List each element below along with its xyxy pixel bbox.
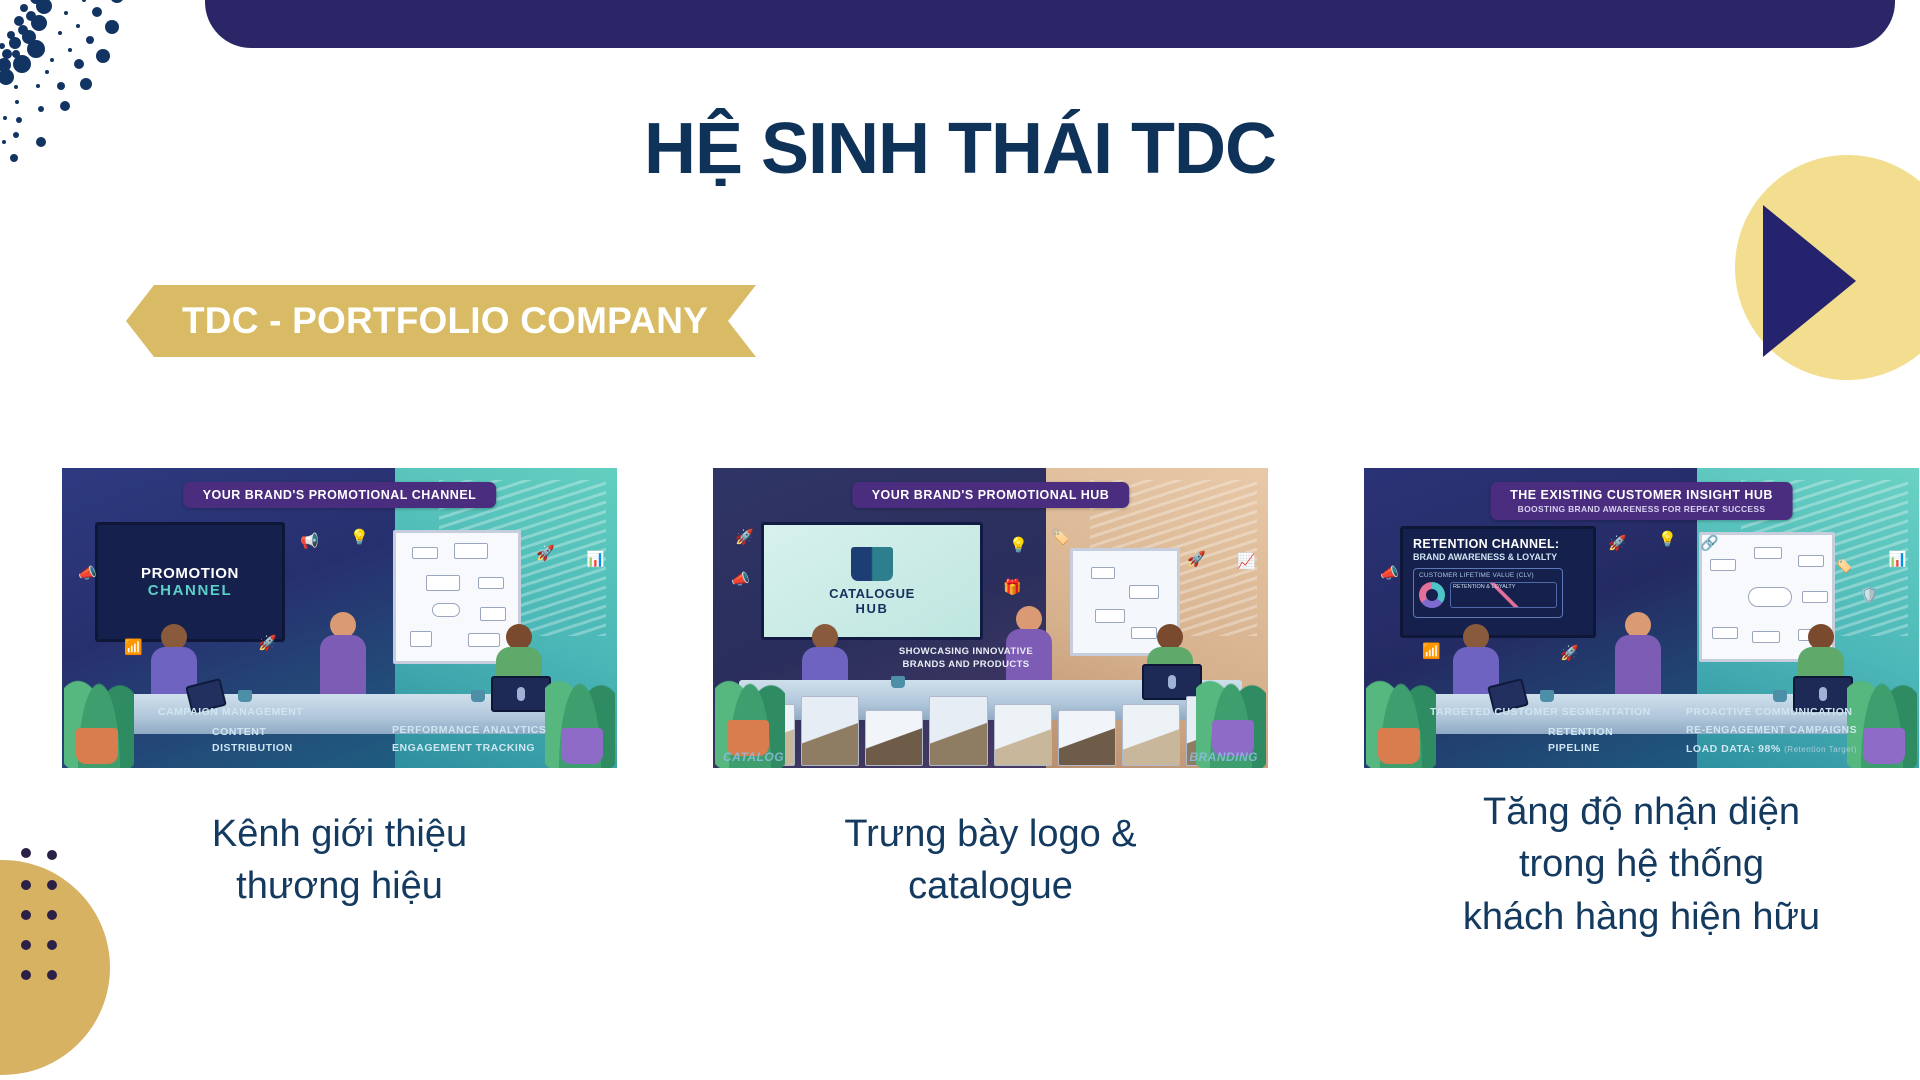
catalogue-book [994, 704, 1052, 766]
screen-title: RETENTION CHANNEL: [1413, 537, 1559, 551]
presentation-screen: RETENTION CHANNEL: BRAND AWARENESS & LOY… [1400, 526, 1596, 638]
whiteboard-center-node [1748, 587, 1792, 607]
feature-labels: TARGETED CUSTOMER SEGMENTATION RETENTION… [1364, 696, 1919, 768]
lightbulb-icon: 💡 [350, 530, 369, 545]
top-decorative-bar [205, 0, 1895, 48]
feature-label: CAMPAIGN MANAGEMENT [158, 706, 303, 718]
screen-title-line1: PROMOTION [141, 565, 239, 582]
whiteboard-node [1091, 567, 1115, 579]
rocket-icon: 🚀 [1560, 646, 1579, 661]
bar-chart-icon: 📈 [1237, 554, 1256, 569]
page-title: HỆ SINH THÁI TDC [0, 108, 1920, 190]
whiteboard-node [1095, 609, 1125, 623]
rocket-icon: 🚀 [735, 530, 754, 545]
retention-trend-chart: RETENTION & LOYALTY [1450, 582, 1557, 608]
screen-subtitle: BRAND AWARENESS & LOYALTY [1413, 552, 1557, 562]
bar-chart-icon: 📊 [1888, 552, 1907, 567]
load-data-value: LOAD DATA: 98% [1686, 743, 1781, 755]
card-ribbon: YOUR BRAND'S PROMOTIONAL CHANNEL [183, 482, 497, 508]
catalogue-book [801, 696, 859, 766]
link-icon: 🔗 [1700, 536, 1719, 551]
feature-label: PERFORMANCE ANALYTICS [392, 724, 546, 736]
corner-word-branding: BRANDING [1189, 750, 1258, 764]
feature-label: RE-ENGAGEMENT CAMPAIGNS [1686, 724, 1857, 736]
load-data-note: (Retention Target) [1784, 745, 1857, 754]
screen-title-line2: HUB [856, 601, 889, 616]
whiteboard-node [412, 547, 438, 559]
play-triangle-icon [1763, 205, 1856, 357]
whiteboard-node [1752, 631, 1780, 643]
whiteboard-node [478, 577, 504, 589]
ribbon-title: YOUR BRAND'S PROMOTIONAL CHANNEL [203, 488, 477, 502]
feature-label: CONTENT [212, 726, 266, 738]
card-catalogue-hub[interactable]: CATALOGUE HUB [713, 468, 1268, 943]
card-image-customer-insight-hub: RETENTION CHANNEL: BRAND AWARENESS & LOY… [1364, 468, 1919, 768]
clv-panel: CUSTOMER LIFETIME VALUE (CLV) RETENTION … [1413, 568, 1563, 618]
megaphone-icon: 📣 [1380, 566, 1399, 581]
corner-word-catalog: CATALOG [723, 750, 784, 764]
price-tag-icon: 🏷️ [1834, 558, 1853, 573]
donut-chart-icon [1419, 582, 1445, 608]
price-tag-icon: 🏷️ [1051, 530, 1070, 545]
catalogue-book [1058, 710, 1116, 766]
whiteboard-node [1712, 627, 1738, 639]
screen-title-line1: CATALOGUE [829, 586, 915, 601]
card-row: PROMOTION CHANNEL [62, 468, 1858, 943]
rocket-icon: 🚀 [1187, 552, 1206, 567]
portfolio-company-badge: TDC - PORTFOLIO COMPANY [126, 285, 756, 357]
feature-label: ENGAGEMENT TRACKING [392, 742, 535, 754]
card-promotion-channel[interactable]: PROMOTION CHANNEL [62, 468, 617, 943]
whiteboard-node [1129, 585, 1159, 599]
badge-label: TDC - PORTFOLIO COMPANY [182, 300, 708, 342]
screen-title-line2: CHANNEL [148, 582, 233, 599]
whiteboard-node [432, 603, 460, 617]
megaphone-icon: 📣 [78, 566, 97, 581]
illustration-scene: CATALOGUE HUB [713, 468, 1268, 768]
lightbulb-icon: 💡 [1009, 538, 1028, 553]
catalogue-book [865, 710, 923, 766]
book-logo-icon [851, 547, 893, 581]
clv-panel-caption: CUSTOMER LIFETIME VALUE (CLV) [1419, 572, 1557, 579]
feature-label: PROACTIVE COMMUNICATION [1686, 706, 1852, 718]
retention-chart-label: RETENTION & LOYALTY [1451, 583, 1556, 591]
megaphone-icon: 📣 [731, 572, 750, 587]
whiteboard-node [454, 543, 488, 559]
ribbon-title: THE EXISTING CUSTOMER INSIGHT HUB [1510, 488, 1773, 502]
illustration-scene: PROMOTION CHANNEL [62, 468, 617, 768]
whiteboard-node [1798, 555, 1824, 567]
lightbulb-icon: 💡 [1658, 532, 1677, 547]
presentation-screen: CATALOGUE HUB [761, 522, 983, 640]
card-image-catalogue-hub: CATALOGUE HUB [713, 468, 1268, 768]
whiteboard-node [1754, 547, 1782, 559]
rocket-icon: 🚀 [258, 636, 277, 651]
shield-check-icon: 🛡️ [1860, 588, 1879, 603]
whiteboard-node [426, 575, 460, 591]
feature-labels: CAMPAIGN MANAGEMENT CONTENT DISTRIBUTION… [62, 696, 617, 768]
rocket-icon: 🚀 [536, 546, 555, 561]
feature-label: RETENTION [1548, 726, 1613, 738]
card-caption: Kênh giới thiệuthương hiệu [62, 808, 617, 913]
feature-label: TARGETED CUSTOMER SEGMENTATION [1430, 706, 1651, 718]
card-customer-insight-hub[interactable]: RETENTION CHANNEL: BRAND AWARENESS & LOY… [1364, 468, 1919, 943]
illustration-scene: RETENTION CHANNEL: BRAND AWARENESS & LOY… [1364, 468, 1919, 768]
rocket-icon: 🚀 [1608, 536, 1627, 551]
card-caption: Tăng độ nhận diệntrong hệ thốngkhách hàn… [1364, 786, 1919, 943]
bar-chart-icon: 📊 [586, 552, 605, 567]
catalogue-book [1122, 704, 1180, 766]
whiteboard-node [480, 607, 506, 621]
bar-chart-icon: 📶 [1422, 644, 1441, 659]
megaphone-icon: 📢 [300, 534, 319, 549]
card-ribbon: YOUR BRAND'S PROMOTIONAL HUB [852, 482, 1130, 508]
catalogue-stack [731, 682, 1250, 766]
bar-chart-icon: 📶 [124, 640, 143, 655]
whiteboard-node [1802, 591, 1828, 603]
card-caption: Trưng bày logo &catalogue [713, 808, 1268, 913]
catalogue-book [929, 696, 987, 766]
person-presenter [317, 612, 369, 704]
person-presenter [1612, 612, 1664, 704]
gift-icon: 🎁 [1003, 580, 1022, 595]
feature-label: DISTRIBUTION [212, 742, 293, 754]
feature-label-load-data: LOAD DATA: 98% (Retention Target) [1686, 743, 1857, 755]
ribbon-title: YOUR BRAND'S PROMOTIONAL HUB [872, 488, 1110, 502]
showcase-text: SHOWCASING INNOVATIVE BRANDS AND PRODUCT… [881, 646, 1051, 672]
card-image-promotion-channel: PROMOTION CHANNEL [62, 468, 617, 768]
card-ribbon: THE EXISTING CUSTOMER INSIGHT HUB BOOSTI… [1490, 482, 1793, 520]
whiteboard-node [410, 631, 432, 647]
ribbon-subtitle: BOOSTING BRAND AWARENESS FOR REPEAT SUCC… [1510, 504, 1773, 514]
feature-label: PIPELINE [1548, 742, 1600, 754]
whiteboard-node [1710, 559, 1736, 571]
